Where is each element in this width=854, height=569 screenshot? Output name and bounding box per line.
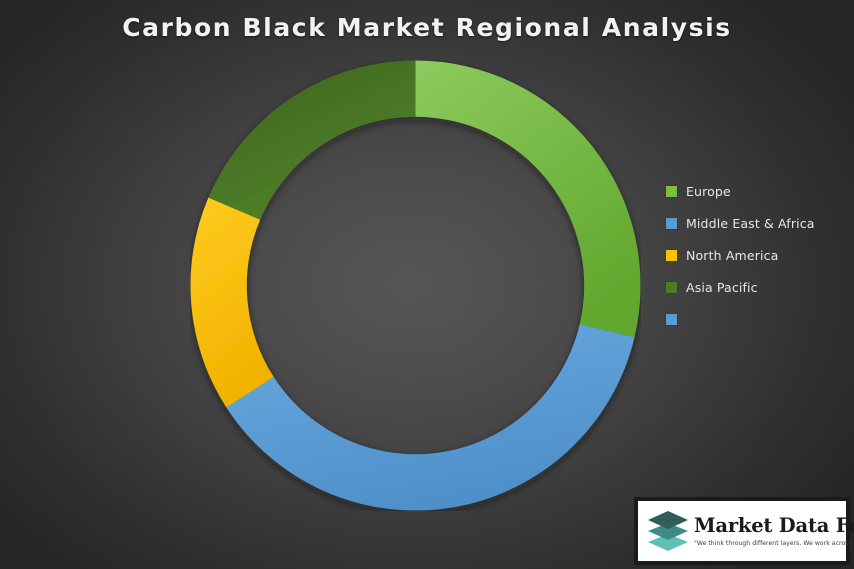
layers-icon-svg xyxy=(645,506,691,556)
chart-canvas: Carbon Black Market Regional Analysis xyxy=(0,0,854,569)
logo-tagline: "We think through different layers. We w… xyxy=(694,537,854,548)
brand-logo[interactable]: Market Data Forecast "We think through d… xyxy=(634,497,850,565)
logo-text-block: Market Data Forecast "We think through d… xyxy=(691,515,854,548)
legend-item-asia-pacific[interactable]: Asia Pacific xyxy=(666,271,852,303)
legend-swatch-north-america xyxy=(666,250,677,261)
legend-label-asia-pacific: Asia Pacific xyxy=(686,280,758,295)
legend-item-unlabeled[interactable] xyxy=(666,303,852,335)
donut-slice-group xyxy=(191,61,641,511)
legend-label-middle-east-africa: Middle East & Africa xyxy=(686,216,815,231)
legend-swatch-unlabeled xyxy=(666,314,677,325)
donut-slice[interactable] xyxy=(191,198,274,408)
donut-chart xyxy=(190,60,641,511)
page-title: Carbon Black Market Regional Analysis xyxy=(0,13,854,42)
legend-item-north-america[interactable]: North America xyxy=(666,239,852,271)
legend-label-europe: Europe xyxy=(686,184,731,199)
donut-slice[interactable] xyxy=(208,61,415,220)
donut-slice[interactable] xyxy=(226,324,634,510)
donut-slice[interactable] xyxy=(416,61,641,338)
legend: Europe Middle East & Africa North Americ… xyxy=(666,175,852,335)
layers-icon xyxy=(645,506,691,556)
legend-swatch-middle-east-africa xyxy=(666,218,677,229)
logo-name: Market Data Forecast xyxy=(694,515,854,537)
legend-label-north-america: North America xyxy=(686,248,778,263)
legend-swatch-asia-pacific xyxy=(666,282,677,293)
legend-item-middle-east-africa[interactable]: Middle East & Africa xyxy=(666,207,852,239)
legend-item-europe[interactable]: Europe xyxy=(666,175,852,207)
legend-swatch-europe xyxy=(666,186,677,197)
layer-top-shape xyxy=(648,511,688,529)
donut-chart-svg xyxy=(190,60,641,511)
